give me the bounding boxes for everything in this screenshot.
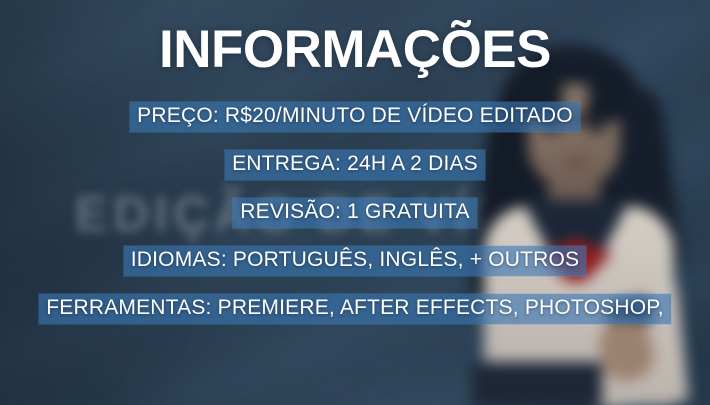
info-line-price: PREÇO: R$20/MINUTO DE VÍDEO EDITADO <box>130 102 580 132</box>
info-line-revision: REVISÃO: 1 GRATUITA <box>233 198 476 228</box>
page-title: INFORMAÇÕES <box>159 22 551 78</box>
info-line-languages: IDIOMAS: PORTUGUÊS, INGLÊS, + OUTROS <box>124 246 586 276</box>
information-poster: EDIÇÃO DE VÍDEOS INFORMAÇÕES PREÇO: R$20… <box>0 0 710 405</box>
info-line-tools: FERRAMENTAS: PREMIERE, AFTER EFFECTS, PH… <box>39 294 671 324</box>
info-line-list: PREÇO: R$20/MINUTO DE VÍDEO EDITADO ENTR… <box>39 102 671 324</box>
poster-content: INFORMAÇÕES PREÇO: R$20/MINUTO DE VÍDEO … <box>0 0 710 405</box>
info-line-delivery: ENTREGA: 24H A 2 DIAS <box>225 150 485 180</box>
